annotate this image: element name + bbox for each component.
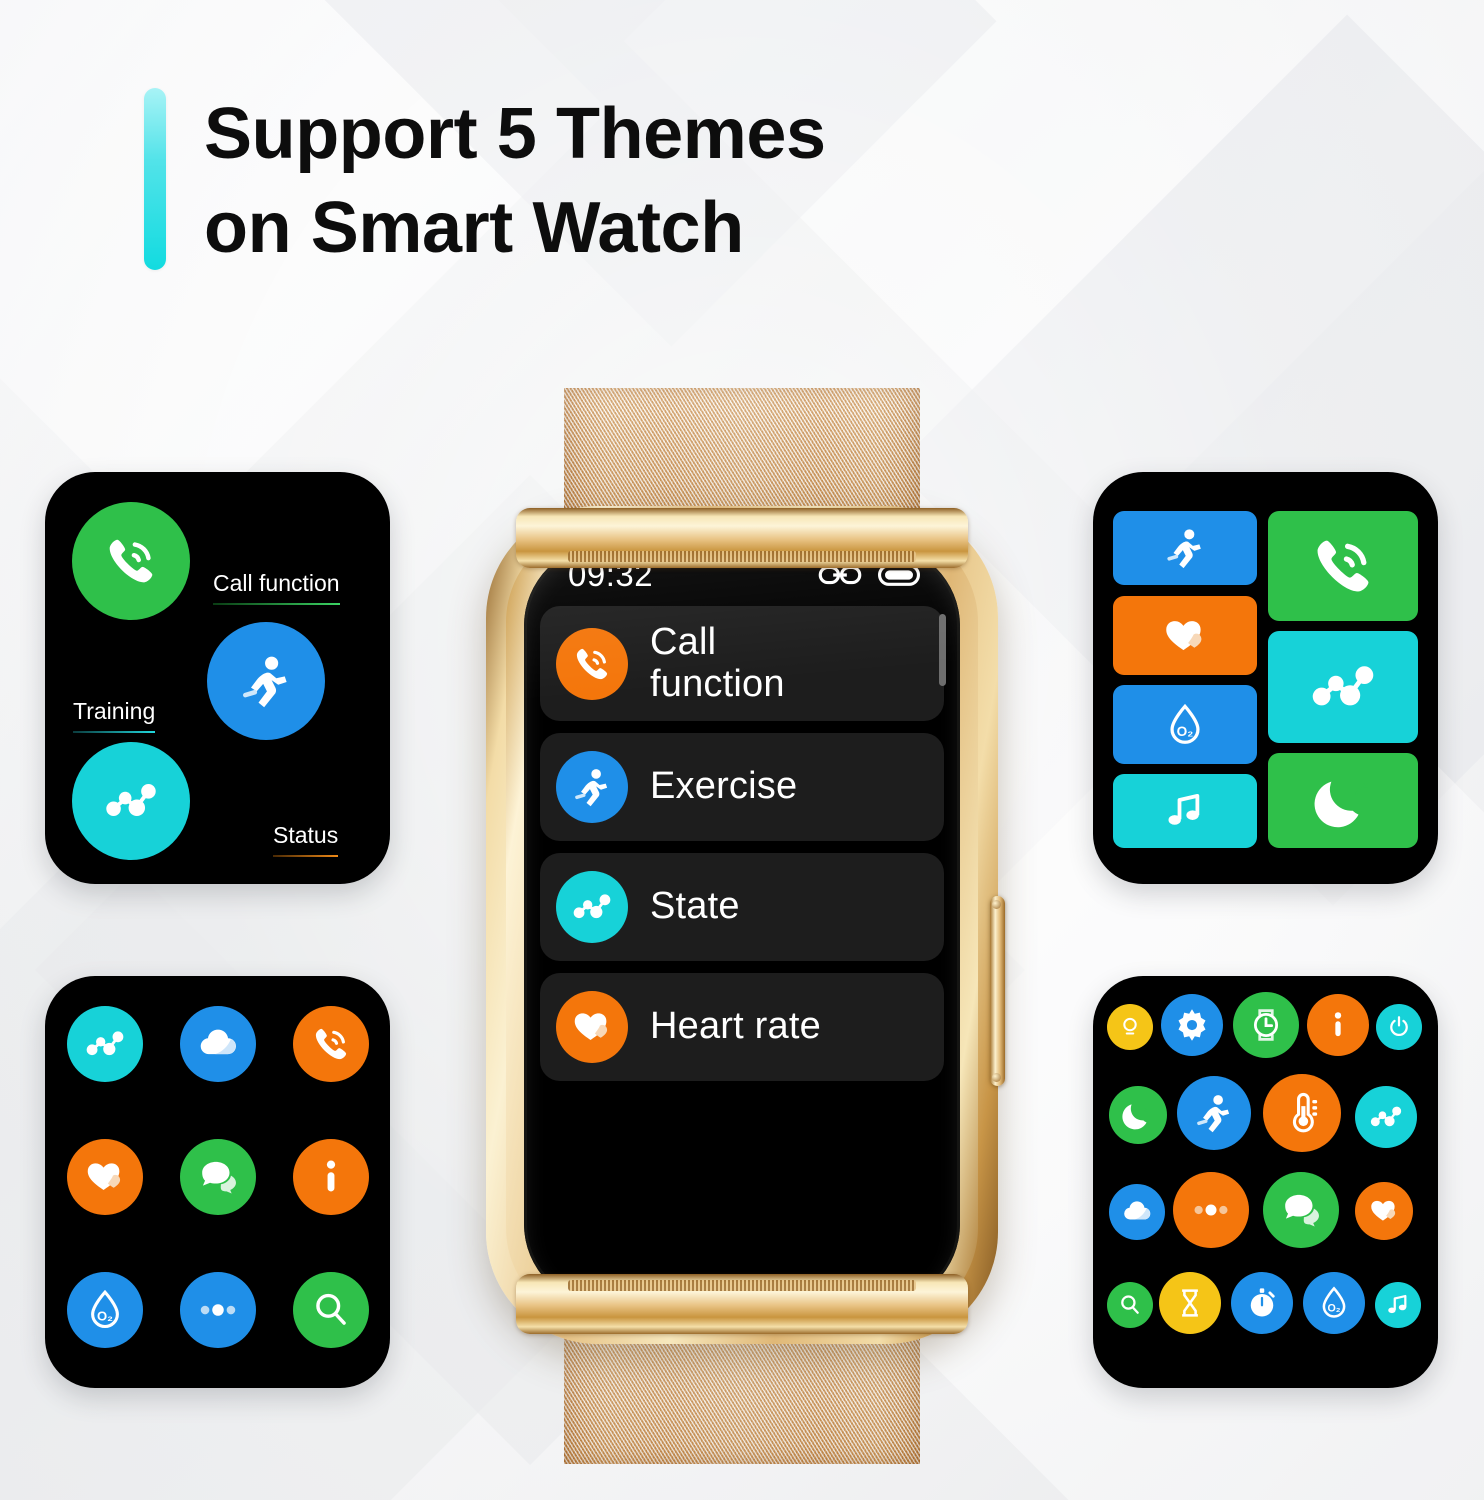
phone-call-icon bbox=[556, 628, 628, 700]
blood-oxygen-icon: O₂ bbox=[1303, 1272, 1365, 1334]
cloud-weather-icon bbox=[180, 1006, 256, 1082]
headline-block: Support 5 Themes on Smart Watch bbox=[144, 88, 826, 275]
watch-display[interactable]: 09:32 bbox=[524, 544, 960, 1306]
brightness-bulb-icon bbox=[1107, 1004, 1153, 1050]
menu-item-label: Exercise bbox=[650, 766, 797, 807]
heart-icon bbox=[556, 991, 628, 1063]
more-dots-icon bbox=[180, 1272, 256, 1348]
chat-bubble-icon bbox=[1263, 1172, 1339, 1248]
svg-text:O₂: O₂ bbox=[97, 1308, 113, 1323]
phone-call-icon bbox=[72, 502, 190, 620]
blood-oxygen-icon: O₂ bbox=[67, 1272, 143, 1348]
running-person-icon bbox=[207, 622, 325, 740]
running-person-icon bbox=[556, 751, 628, 823]
accent-bar bbox=[144, 88, 166, 270]
gear-icon bbox=[1161, 994, 1223, 1056]
cloud-weather-icon bbox=[1109, 1184, 1165, 1240]
theme-preview-bubbles[interactable]: z bbox=[1093, 976, 1438, 1388]
molecule-icon bbox=[556, 871, 628, 943]
smart-watch: 09:32 bbox=[476, 380, 1008, 1460]
chat-bubble-icon bbox=[180, 1139, 256, 1215]
phone-call-icon bbox=[293, 1006, 369, 1082]
running-person-icon bbox=[1113, 511, 1257, 585]
hourglass-icon bbox=[1159, 1272, 1221, 1334]
phone-call-icon bbox=[1268, 511, 1418, 621]
info-icon bbox=[293, 1139, 369, 1215]
menu-item-call-function[interactable]: Callfunction bbox=[540, 606, 944, 721]
menu-item-label: Heart rate bbox=[650, 1006, 821, 1047]
molecule-icon bbox=[67, 1006, 143, 1082]
svg-text:z: z bbox=[1362, 779, 1367, 791]
watch-lug-top bbox=[516, 508, 968, 568]
menu-item-heart-rate[interactable]: Heart rate bbox=[540, 973, 944, 1081]
watch-lug-bottom bbox=[516, 1274, 968, 1334]
power-icon bbox=[1376, 1004, 1422, 1050]
heart-icon bbox=[1355, 1182, 1413, 1240]
svg-text:z: z bbox=[1355, 783, 1362, 799]
stopwatch-icon bbox=[1231, 1272, 1293, 1334]
menu-item-state[interactable]: State bbox=[540, 853, 944, 961]
menu-item-exercise[interactable]: Exercise bbox=[540, 733, 944, 841]
info-icon bbox=[1307, 994, 1369, 1056]
search-icon bbox=[293, 1272, 369, 1348]
blood-oxygen-icon: O₂ bbox=[1113, 685, 1257, 764]
running-person-icon bbox=[1177, 1076, 1251, 1150]
menu-item-label: Callfunction bbox=[650, 622, 785, 704]
music-note-icon bbox=[1375, 1282, 1421, 1328]
menu-item-label: State bbox=[650, 886, 740, 927]
svg-text:z: z bbox=[1143, 1104, 1147, 1114]
theme-preview-tiles[interactable]: O₂ z z bbox=[1093, 472, 1438, 884]
music-note-icon bbox=[1113, 774, 1257, 848]
molecule-icon bbox=[72, 742, 190, 860]
menu-list[interactable]: Callfunction Exercise bbox=[540, 606, 944, 1081]
search-icon bbox=[1107, 1282, 1153, 1328]
molecule-icon bbox=[1355, 1086, 1417, 1148]
watch-case: 09:32 bbox=[486, 506, 998, 1344]
label-status: Status bbox=[273, 822, 338, 857]
heart-icon bbox=[1113, 596, 1257, 675]
more-dots-icon bbox=[1173, 1172, 1249, 1248]
molecule-icon bbox=[1268, 631, 1418, 743]
label-training: Training bbox=[73, 698, 155, 733]
scrollbar-thumb[interactable] bbox=[939, 614, 946, 686]
theme-preview-list[interactable]: Call function Training Status bbox=[45, 472, 390, 884]
heart-icon bbox=[67, 1139, 143, 1215]
sleep-moon-icon: z z bbox=[1268, 753, 1418, 848]
svg-text:O₂: O₂ bbox=[1327, 1302, 1340, 1314]
sleep-moon-icon: z bbox=[1109, 1086, 1167, 1144]
page-title: Support 5 Themes on Smart Watch bbox=[204, 88, 826, 275]
theme-preview-grid[interactable]: O₂ bbox=[45, 976, 390, 1388]
watch-clock-icon bbox=[1233, 992, 1299, 1058]
side-button[interactable] bbox=[990, 896, 1005, 1086]
svg-text:O₂: O₂ bbox=[1177, 723, 1194, 738]
thermometer-icon bbox=[1263, 1074, 1341, 1152]
label-call-function: Call function bbox=[213, 570, 340, 605]
